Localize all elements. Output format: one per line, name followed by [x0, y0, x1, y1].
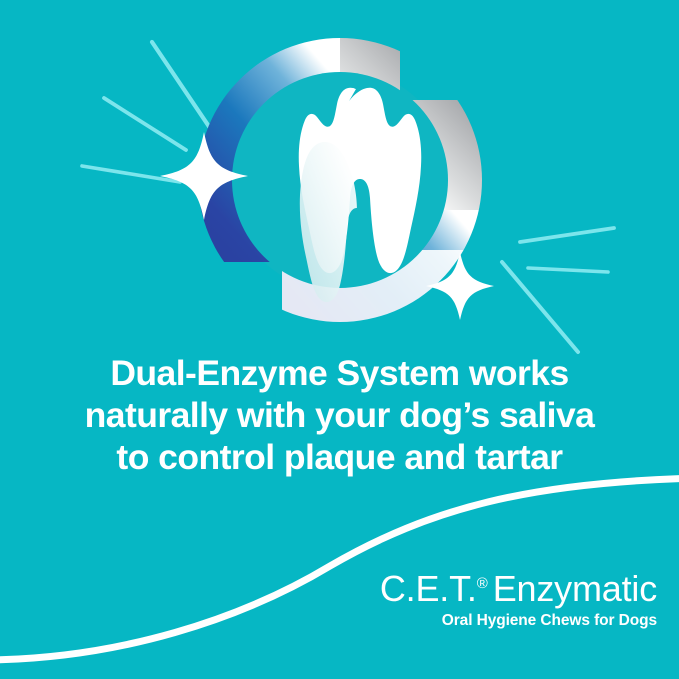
headline: Dual-Enzyme System works naturally with … — [0, 352, 679, 478]
headline-line-2: naturally with your dog’s saliva — [0, 394, 679, 436]
headline-line-1: Dual-Enzyme System works — [0, 352, 679, 394]
brand-name: C.E.T.®Enzymatic — [380, 564, 657, 609]
brand-lockup: C.E.T.®Enzymatic Oral Hygiene Chews for … — [380, 564, 657, 631]
ray-left-2 — [104, 98, 186, 150]
brand-name-secondary: Enzymatic — [493, 568, 657, 609]
ray-right-3 — [502, 262, 578, 352]
registered-trademark-symbol: ® — [477, 575, 488, 592]
ray-right-2 — [528, 268, 608, 272]
tooth-cycle-logo — [0, 0, 679, 360]
ray-right-1 — [520, 228, 614, 242]
logo-area — [0, 0, 679, 360]
brand-name-main: C.E.T. — [380, 568, 477, 609]
ray-left-3 — [82, 166, 180, 182]
brand-tagline: Oral Hygiene Chews for Dogs — [380, 611, 657, 631]
rays-right — [502, 228, 614, 352]
product-feature-poster: Dual-Enzyme System works naturally with … — [0, 0, 679, 679]
